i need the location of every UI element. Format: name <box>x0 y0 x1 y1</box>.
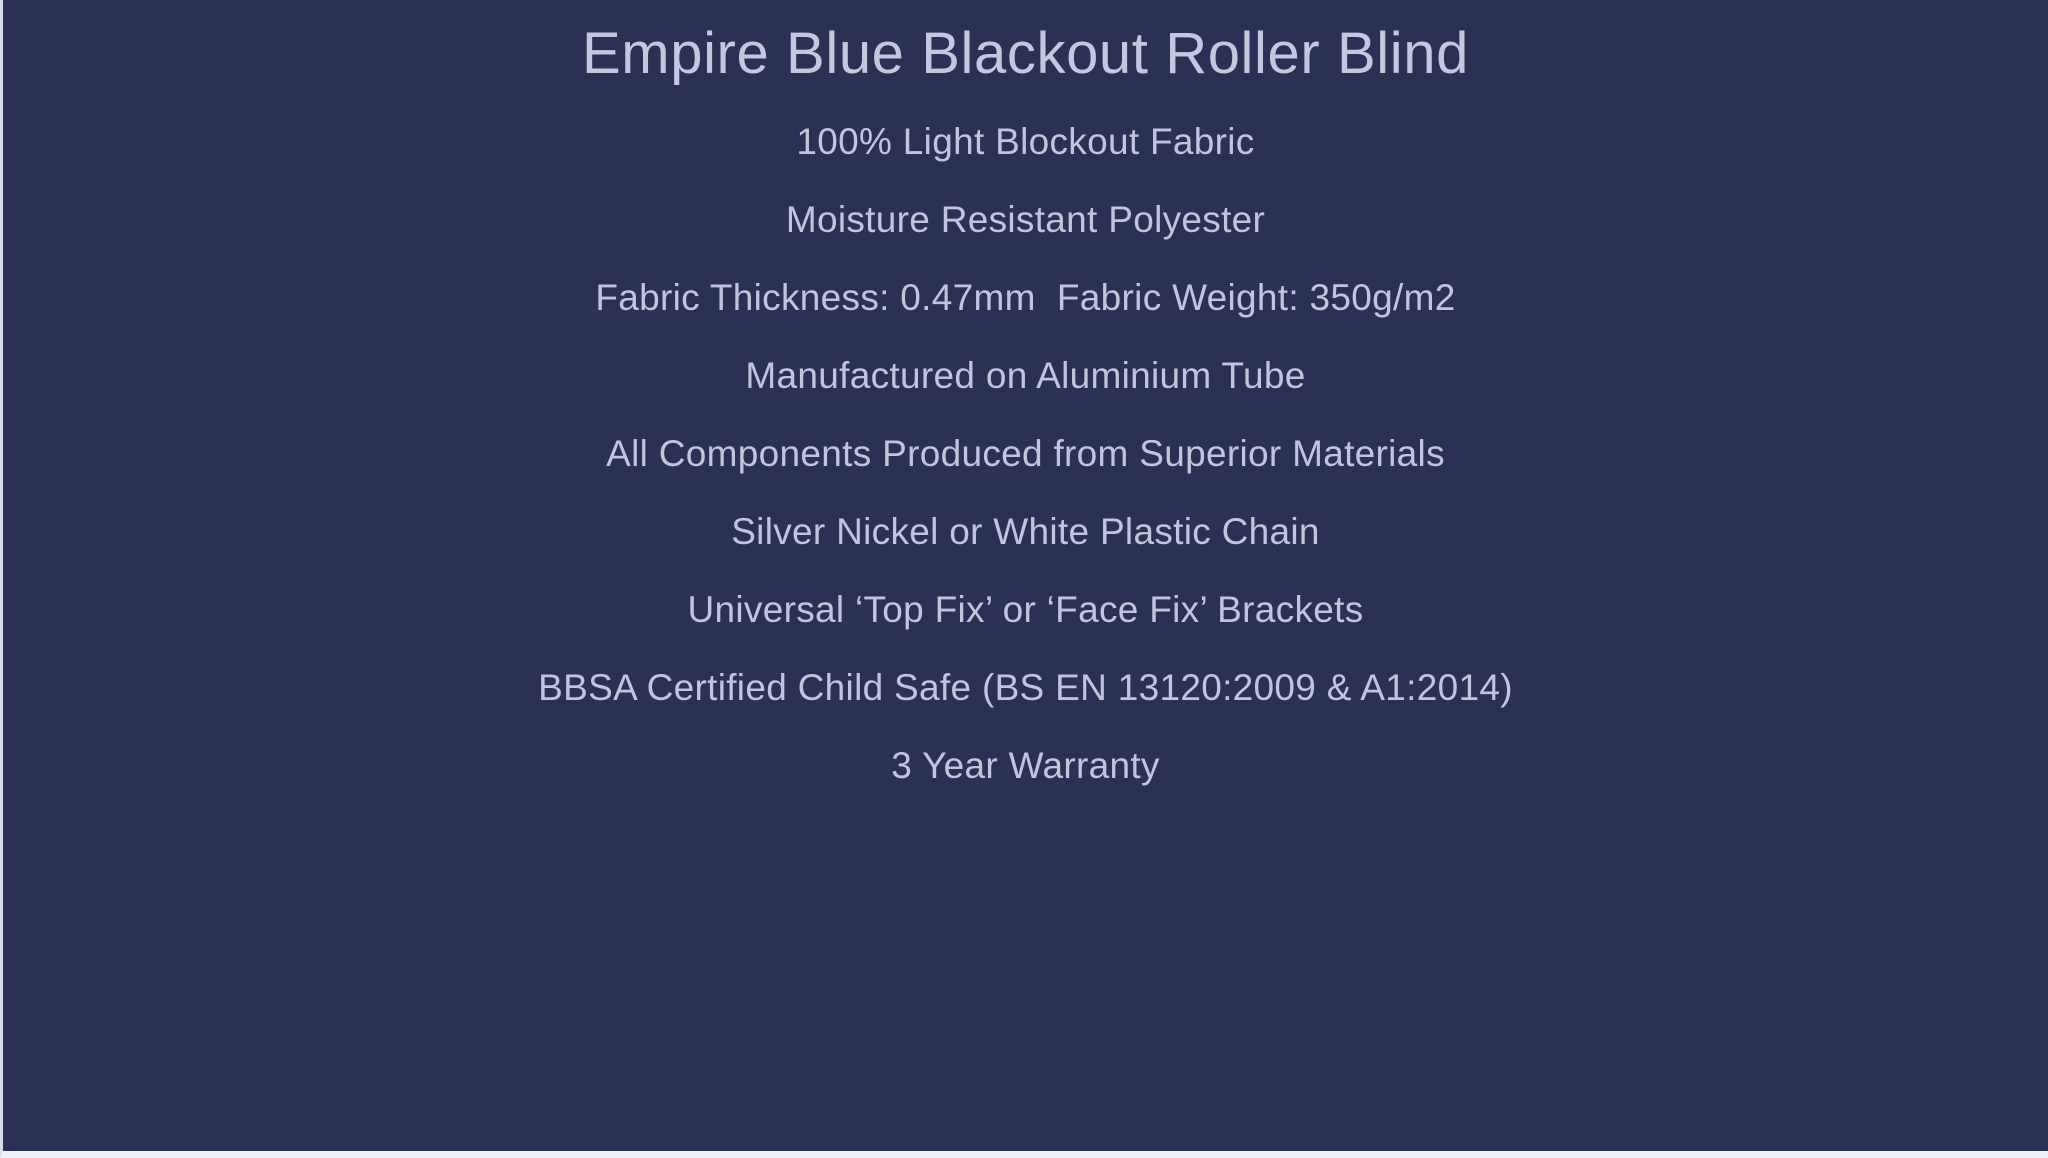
product-spec-banner: Empire Blue Blackout Roller Blind 100% L… <box>0 0 2048 1158</box>
list-item: Universal ‘Top Fix’ or ‘Face Fix’ Bracke… <box>3 571 2048 649</box>
list-item: 3 Year Warranty <box>3 727 2048 805</box>
list-item: Manufactured on Aluminium Tube <box>3 337 2048 415</box>
list-item: Fabric Thickness: 0.47mm Fabric Weight: … <box>3 259 2048 337</box>
page-title: Empire Blue Blackout Roller Blind <box>582 22 1469 87</box>
list-item: Moisture Resistant Polyester <box>3 181 2048 259</box>
spec-feature-list: 100% Light Blockout Fabric Moisture Resi… <box>3 103 2048 805</box>
list-item: Silver Nickel or White Plastic Chain <box>3 493 2048 571</box>
list-item: BBSA Certified Child Safe (BS EN 13120:2… <box>3 649 2048 727</box>
spec-panel: Empire Blue Blackout Roller Blind 100% L… <box>3 0 2048 1151</box>
list-item: All Components Produced from Superior Ma… <box>3 415 2048 493</box>
list-item: 100% Light Blockout Fabric <box>3 103 2048 181</box>
